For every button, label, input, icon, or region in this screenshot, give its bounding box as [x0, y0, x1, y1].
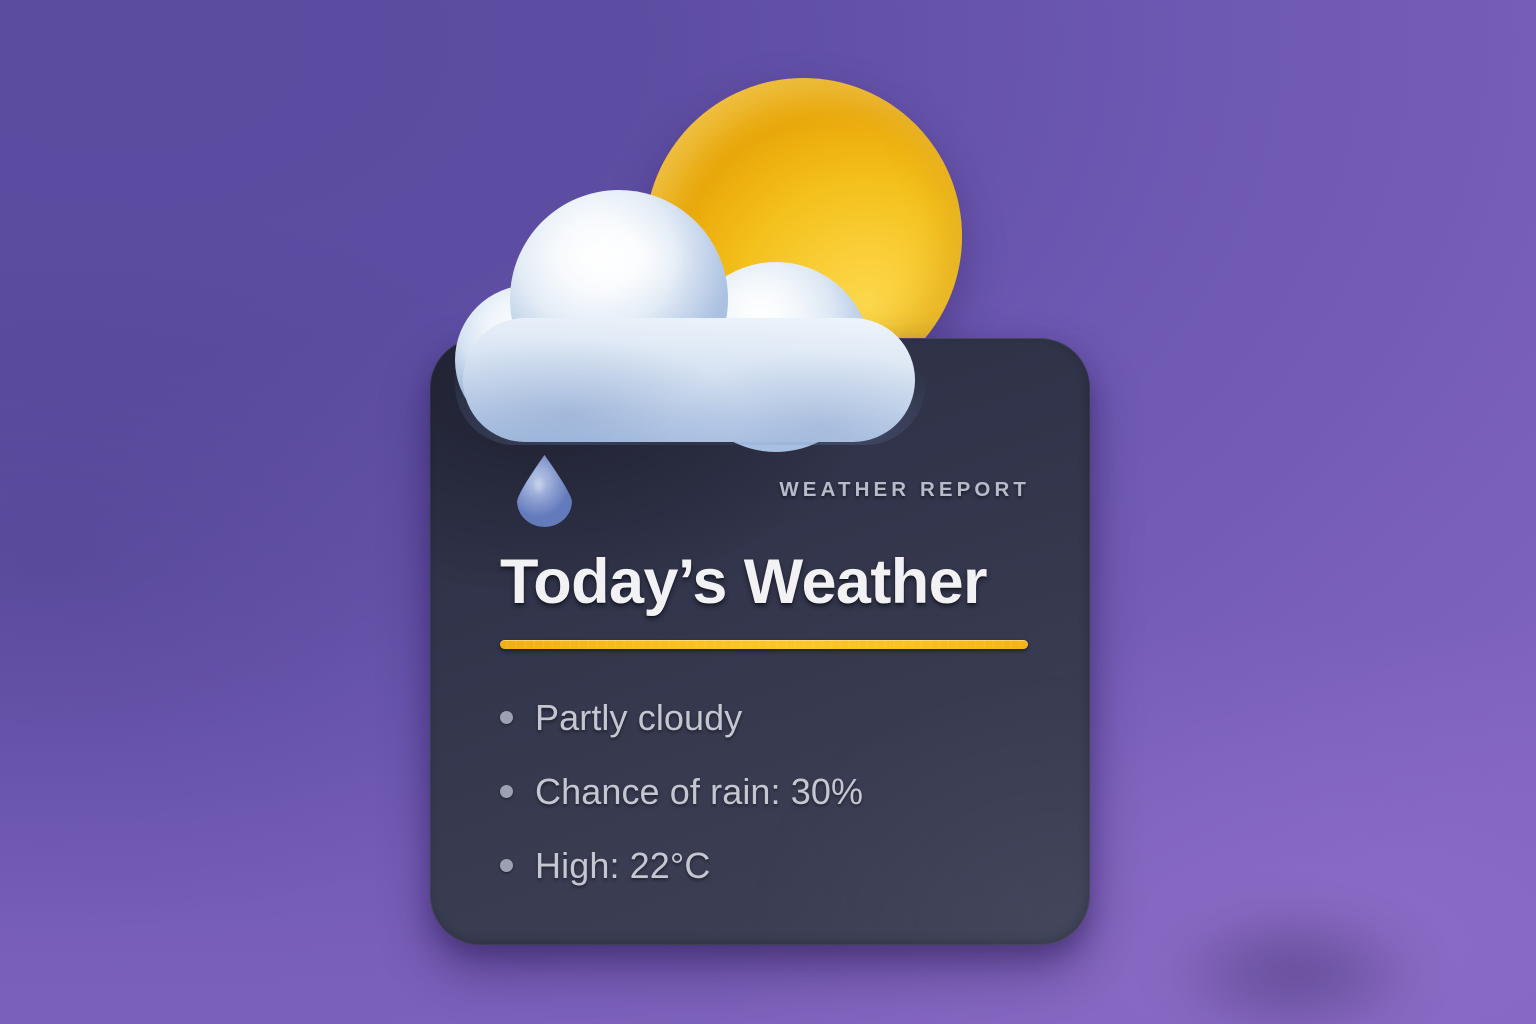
weather-card-scene: WEATHER REPORT Today’s Weather Partly cl…	[0, 0, 1536, 1024]
list-item: Partly cloudy	[500, 697, 1030, 739]
bullet-dot-icon	[500, 785, 513, 798]
list-item: Chance of rain: 30%	[500, 771, 1030, 813]
weather-detail-list: Partly cloudy Chance of rain: 30% High: …	[500, 697, 1030, 887]
page-title: Today’s Weather	[500, 550, 1030, 616]
cloud-base	[463, 318, 915, 442]
accent-rule	[500, 640, 1028, 649]
list-item: High: 22°C	[500, 845, 1030, 887]
card-eyebrow: WEATHER REPORT	[500, 478, 1030, 502]
bullet-dot-icon	[500, 711, 513, 724]
bullet-dot-icon	[500, 859, 513, 872]
card-content: WEATHER REPORT Today’s Weather Partly cl…	[500, 478, 1030, 887]
list-item-label: Partly cloudy	[535, 697, 742, 739]
cloud-icon	[455, 190, 925, 445]
list-item-label: Chance of rain: 30%	[535, 771, 863, 813]
list-item-label: High: 22°C	[535, 845, 710, 887]
floor-shadow	[1130, 905, 1460, 1024]
